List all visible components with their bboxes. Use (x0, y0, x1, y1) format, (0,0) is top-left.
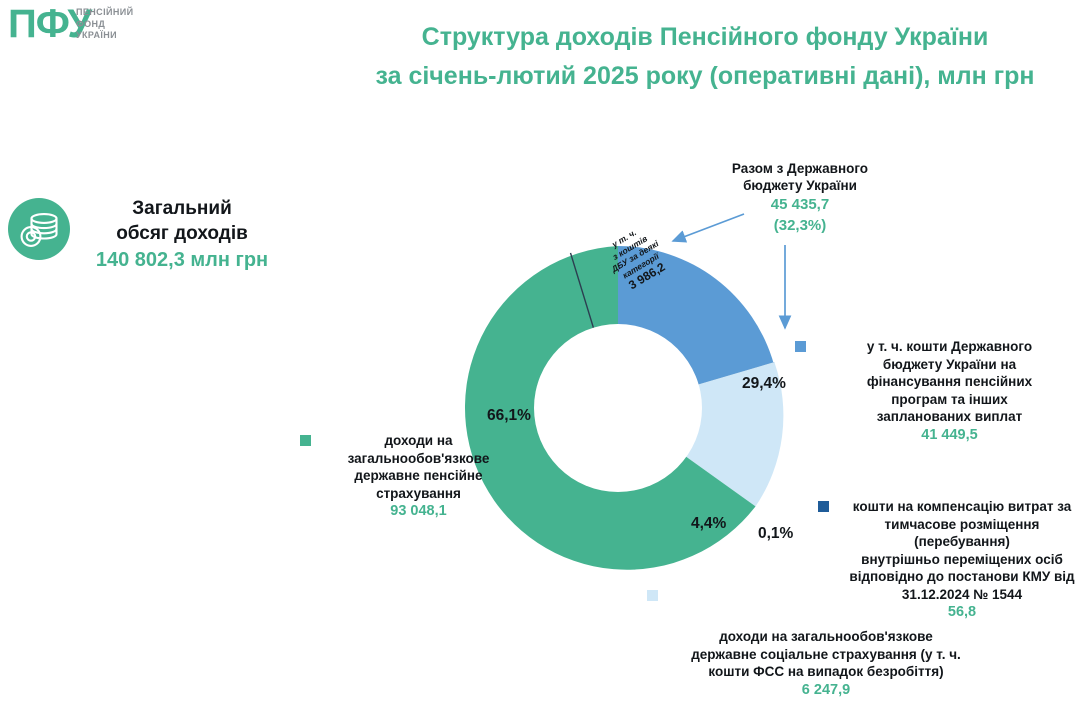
coins-icon (8, 198, 70, 260)
legend-swatch-blue (795, 341, 806, 352)
legend-blue-line-3: фінансування пенсійних (814, 373, 1085, 391)
legend-green-body: доходи на загальнообов'язкове державне п… (322, 432, 515, 521)
total-income-label-line-2: обсяг доходів (76, 221, 288, 246)
percent-label-lightblue: 4,4% (691, 515, 726, 533)
legend-swatch-navy (818, 501, 829, 512)
legend-lightblue-body: доходи на загальнообов'язкове державне с… (620, 628, 1032, 700)
total-income-text: Загальний обсяг доходів 140 802,3 млн гр… (76, 196, 288, 274)
callout-line-2: бюджету України (685, 177, 915, 194)
callout-state-budget-total: Разом з Державного бюджету України 45 43… (685, 160, 915, 236)
legend-lightblue-line-2: державне соціальне страхування (у т. ч. (620, 646, 1032, 664)
percent-label-navy: 0,1% (758, 525, 793, 543)
legend-lightblue-line-1: доходи на загальнообов'язкове (620, 628, 1032, 646)
legend-green-line-2: загальнообов'язкове (322, 450, 515, 468)
logo-wordmark: ПЕНСІЙНИЙ ФОНД УКРАЇНИ (76, 7, 133, 42)
legend-green-line-1: доходи на (322, 432, 515, 450)
logo-word-line-1: ПЕНСІЙНИЙ (76, 7, 133, 19)
page-title: Структура доходів Пенсійного фонду Украї… (330, 18, 1080, 96)
legend-item-lightblue: доходи на загальнообов'язкове державне с… (620, 588, 1032, 700)
legend-item-green: доходи на загальнообов'язкове державне п… (300, 432, 515, 521)
donut-hole (534, 324, 702, 492)
page-title-line-2: за січень-лютий 2025 року (оперативні да… (330, 57, 1080, 96)
callout-value: 45 435,7 (685, 194, 915, 215)
legend-navy-line-2: тимчасове розміщення (перебування) (836, 516, 1088, 551)
logo-word-line-2: ФОНД (76, 19, 133, 31)
legend-blue-value: 41 449,5 (814, 426, 1085, 445)
legend-green-value: 93 048,1 (322, 502, 515, 521)
logo-word-line-3: УКРАЇНИ (76, 30, 133, 42)
callout-line-1: Разом з Державного (685, 160, 915, 177)
legend-navy-line-4: відповідно до постанови КМУ від (836, 568, 1088, 586)
total-income-label-line-1: Загальний (76, 196, 288, 221)
legend-item-blue: у т. ч. кошти Державного бюджету України… (795, 338, 1085, 445)
percent-label-green: 66,1% (487, 407, 531, 425)
legend-swatch-green (300, 435, 311, 446)
legend-navy-line-3: внутрішньо переміщених осіб (836, 551, 1088, 569)
legend-green-line-3: державне пенсійне (322, 467, 515, 485)
legend-green-line-4: страхування (322, 485, 515, 503)
total-income-value: 140 802,3 млн грн (76, 246, 288, 274)
legend-blue-line-2: бюджету України на (814, 356, 1085, 374)
infographic-page: ПФУ ПЕНСІЙНИЙ ФОНД УКРАЇНИ Структура дох… (0, 0, 1089, 707)
legend-lightblue-line-3: кошти ФСС на випадок безробіття) (620, 663, 1032, 681)
legend-swatch-lightblue (647, 590, 658, 601)
legend-blue-body: у т. ч. кошти Державного бюджету України… (814, 338, 1085, 445)
legend-blue-line-1: у т. ч. кошти Державного (814, 338, 1085, 356)
percent-label-blue: 29,4% (742, 375, 786, 393)
pfu-logo: ПФУ ПЕНСІЙНИЙ ФОНД УКРАЇНИ (8, 2, 208, 54)
legend-blue-line-5: запланованих виплат (814, 408, 1085, 426)
legend-lightblue-value: 6 247,9 (620, 681, 1032, 700)
page-title-line-1: Структура доходів Пенсійного фонду Украї… (330, 18, 1080, 57)
callout-percent: (32,3%) (685, 215, 915, 236)
total-income-block: Загальний обсяг доходів 140 802,3 млн гр… (8, 196, 288, 286)
legend-navy-line-1: кошти на компенсацію витрат за (836, 498, 1088, 516)
legend-blue-line-4: програм та інших (814, 391, 1085, 409)
